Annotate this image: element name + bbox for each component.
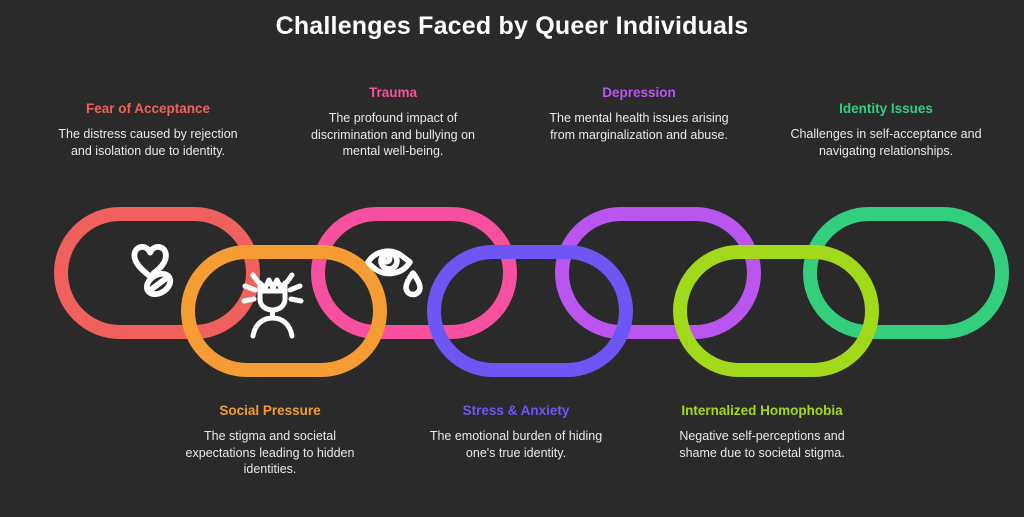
text-block-identity-issues: Identity Issues Challenges in self-accep… bbox=[790, 100, 982, 159]
description-internalized-homophobia: Negative self-perceptions and shame due … bbox=[668, 428, 856, 461]
chain-link-7[interactable] bbox=[810, 214, 1002, 332]
link-ring-4 bbox=[434, 252, 626, 370]
link-ring-7 bbox=[810, 214, 1002, 332]
text-block-internalized-homophobia: Internalized Homophobia Negative self-pe… bbox=[668, 402, 856, 461]
heading-depression: Depression bbox=[546, 84, 732, 102]
heading-stress-anxiety: Stress & Anxiety bbox=[424, 402, 608, 420]
infographic-canvas: Challenges Faced by Queer Individuals Fe… bbox=[0, 0, 1024, 517]
heading-fear-of-acceptance: Fear of Acceptance bbox=[52, 100, 244, 118]
description-fear-of-acceptance: The distress caused by rejection and iso… bbox=[52, 126, 244, 159]
broken-heart-icon bbox=[134, 247, 174, 298]
heading-internalized-homophobia: Internalized Homophobia bbox=[668, 402, 856, 420]
link-ring-6 bbox=[680, 252, 872, 370]
text-block-social-pressure: Social Pressure The stigma and societal … bbox=[176, 402, 364, 478]
chain-diagram bbox=[0, 196, 1024, 386]
text-block-stress-anxiety: Stress & Anxiety The emotional burden of… bbox=[424, 402, 608, 461]
chain-link-4[interactable] bbox=[434, 252, 626, 370]
chain-link-6[interactable] bbox=[680, 252, 872, 370]
description-identity-issues: Challenges in self-acceptance and naviga… bbox=[790, 126, 982, 159]
heading-social-pressure: Social Pressure bbox=[176, 402, 364, 420]
text-block-trauma: Trauma The profound impact of discrimina… bbox=[300, 84, 486, 160]
chain-link-2[interactable] bbox=[188, 252, 380, 370]
description-social-pressure: The stigma and societal expectations lea… bbox=[176, 428, 364, 478]
link-ring-5 bbox=[562, 214, 754, 332]
text-block-depression: Depression The mental health issues aris… bbox=[546, 84, 732, 143]
heading-identity-issues: Identity Issues bbox=[790, 100, 982, 118]
description-trauma: The profound impact of discrimination an… bbox=[300, 110, 486, 160]
description-stress-anxiety: The emotional burden of hiding one's tru… bbox=[424, 428, 608, 461]
link-ring-2 bbox=[188, 252, 380, 370]
page-title: Challenges Faced by Queer Individuals bbox=[0, 12, 1024, 41]
chain-link-5[interactable] bbox=[562, 214, 754, 332]
text-block-fear-of-acceptance: Fear of Acceptance The distress caused b… bbox=[52, 100, 244, 159]
heading-trauma: Trauma bbox=[300, 84, 486, 102]
description-depression: The mental health issues arising from ma… bbox=[546, 110, 732, 143]
